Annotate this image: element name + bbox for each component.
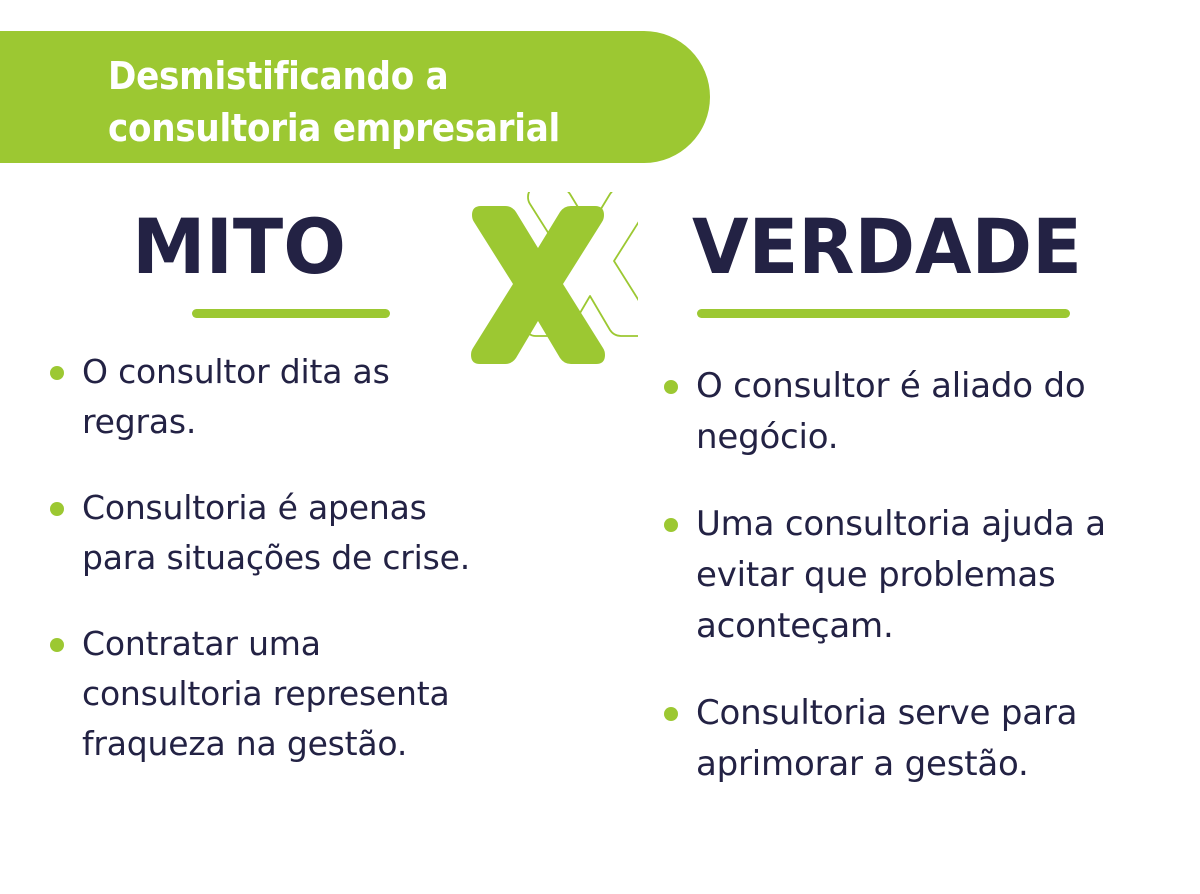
header-title-line-2: consultoria empresarial [108, 102, 650, 154]
column-verdade: VERDADE O consultor é aliado do negócio.… [640, 205, 1110, 790]
mito-heading-underline [192, 309, 390, 318]
list-item-text: O consultor dita as regras. [82, 347, 480, 447]
column-verdade-header: VERDADE [640, 205, 1110, 325]
column-verdade-heading: VERDADE [692, 205, 1093, 289]
list-item-text: Consultoria serve para aprimorar a gestã… [696, 688, 1110, 790]
list-item: O consultor é aliado do negócio. [654, 361, 1110, 463]
list-item-text: O consultor é aliado do negócio. [696, 361, 1110, 463]
list-item: Contratar uma consultoria representa fra… [40, 619, 480, 769]
comparison-columns: MITO O consultor dita as regras. Consult… [0, 205, 1200, 894]
header-banner: Desmistificando a consultoria empresaria… [0, 31, 710, 163]
column-mito: MITO O consultor dita as regras. Consult… [40, 205, 480, 769]
list-item: Consultoria é apenas para situações de c… [40, 483, 480, 583]
header-title-line-1: Desmistificando a [108, 50, 650, 102]
bullet-dot-icon [664, 707, 678, 721]
mito-bullet-list: O consultor dita as regras. Consultoria … [40, 347, 480, 769]
list-item: O consultor dita as regras. [40, 347, 480, 447]
bullet-dot-icon [50, 502, 64, 516]
bullet-dot-icon [664, 518, 678, 532]
bullet-dot-icon [664, 380, 678, 394]
verdade-bullet-list: O consultor é aliado do negócio. Uma con… [654, 361, 1110, 790]
list-item: Uma consultoria ajuda a evitar que probl… [654, 499, 1110, 652]
infographic-canvas: Desmistificando a consultoria empresaria… [0, 0, 1200, 894]
column-mito-header: MITO [40, 205, 480, 325]
bullet-dot-icon [50, 638, 64, 652]
list-item-text: Uma consultoria ajuda a evitar que probl… [696, 499, 1110, 652]
column-mito-heading: MITO [46, 205, 432, 289]
bullet-dot-icon [50, 366, 64, 380]
verdade-heading-underline [697, 309, 1070, 318]
list-item: Consultoria serve para aprimorar a gestã… [654, 688, 1110, 790]
list-item-text: Consultoria é apenas para situações de c… [82, 483, 480, 583]
list-item-text: Contratar uma consultoria representa fra… [82, 619, 480, 769]
